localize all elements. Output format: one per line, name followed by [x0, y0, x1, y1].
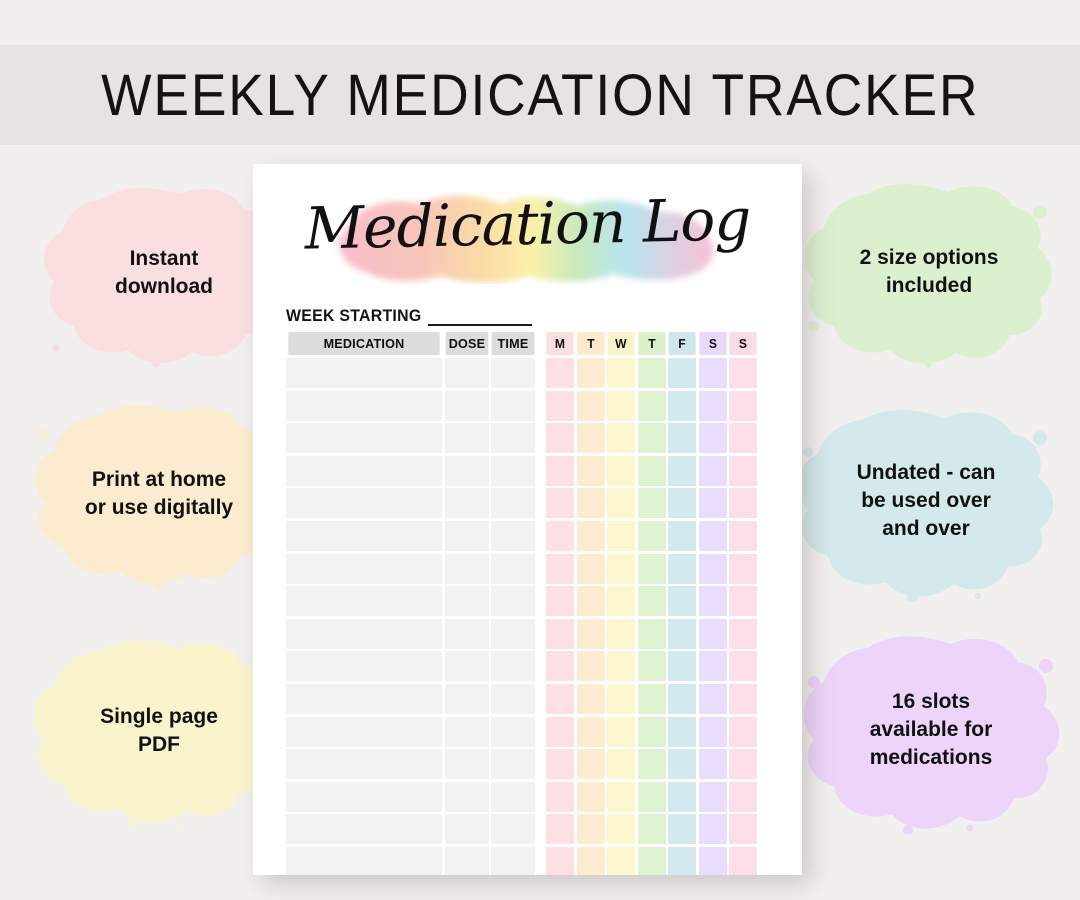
table-row: [286, 749, 770, 779]
cell-day-checkbox[interactable]: [699, 391, 727, 421]
week-starting-label: WEEK STARTING: [286, 307, 421, 326]
cell-dose[interactable]: [445, 717, 489, 747]
cell-day-checkbox[interactable]: [546, 423, 574, 453]
column-gap: [538, 782, 544, 812]
column-gap: [538, 814, 544, 844]
cell-time[interactable]: [491, 423, 535, 453]
cell-day-checkbox[interactable]: [638, 488, 666, 518]
cell-day-checkbox[interactable]: [607, 619, 635, 649]
column-gap: [538, 717, 544, 747]
cell-day-checkbox[interactable]: [729, 423, 757, 453]
week-starting-input[interactable]: [428, 309, 532, 326]
cell-day-checkbox[interactable]: [668, 456, 696, 486]
cell-medication[interactable]: [286, 749, 442, 779]
column-gap: [538, 554, 544, 584]
cell-day-checkbox[interactable]: [668, 847, 696, 875]
cell-day-checkbox[interactable]: [607, 554, 635, 584]
cell-day-checkbox[interactable]: [546, 782, 574, 812]
cell-day-checkbox[interactable]: [699, 782, 727, 812]
cell-day-checkbox[interactable]: [729, 521, 757, 551]
cell-day-checkbox[interactable]: [699, 488, 727, 518]
column-header-medication: MEDICATION: [288, 332, 439, 355]
table-row: [286, 847, 770, 875]
feature-two-size-options: 2 size optionsincluded: [800, 176, 1058, 368]
cell-day-checkbox[interactable]: [729, 749, 757, 779]
cell-dose[interactable]: [445, 651, 489, 681]
cell-day-checkbox[interactable]: [668, 586, 696, 616]
column-gap: [538, 423, 544, 453]
cell-dose[interactable]: [445, 391, 489, 421]
column-gap: [538, 684, 544, 714]
cell-day-checkbox[interactable]: [638, 684, 666, 714]
cell-day-checkbox[interactable]: [577, 814, 605, 844]
cell-time[interactable]: [491, 586, 535, 616]
cell-day-checkbox[interactable]: [638, 521, 666, 551]
cell-day-checkbox[interactable]: [577, 684, 605, 714]
cell-day-checkbox[interactable]: [577, 782, 605, 812]
cell-day-checkbox[interactable]: [729, 651, 757, 681]
table-row: [286, 814, 770, 844]
cell-dose[interactable]: [445, 749, 489, 779]
cell-day-checkbox[interactable]: [729, 717, 757, 747]
column-gap: [538, 619, 544, 649]
cell-day-checkbox[interactable]: [729, 847, 757, 875]
cell-day-checkbox[interactable]: [729, 554, 757, 584]
cell-day-checkbox[interactable]: [638, 814, 666, 844]
cell-day-checkbox[interactable]: [577, 456, 605, 486]
cell-day-checkbox[interactable]: [699, 619, 727, 649]
cell-day-checkbox[interactable]: [546, 749, 574, 779]
feature-label: 2 size optionsincluded: [854, 244, 1005, 299]
feature-undated: Undated - canbe used overand over: [792, 400, 1060, 602]
cell-day-checkbox[interactable]: [699, 521, 727, 551]
cell-time[interactable]: [491, 554, 535, 584]
cell-day-checkbox[interactable]: [638, 456, 666, 486]
cell-day-checkbox[interactable]: [546, 391, 574, 421]
cell-day-checkbox[interactable]: [729, 456, 757, 486]
cell-day-checkbox[interactable]: [546, 717, 574, 747]
cell-medication[interactable]: [286, 847, 442, 875]
page-title: WEEKLY MEDICATION TRACKER: [101, 62, 979, 129]
column-header-day-friday: F: [668, 332, 695, 355]
cell-medication[interactable]: [286, 651, 442, 681]
table-body: [286, 358, 770, 875]
cell-dose[interactable]: [445, 619, 489, 649]
cell-day-checkbox[interactable]: [607, 749, 635, 779]
cell-day-checkbox[interactable]: [699, 684, 727, 714]
cell-time[interactable]: [491, 358, 535, 388]
cell-day-checkbox[interactable]: [729, 619, 757, 649]
cell-day-checkbox[interactable]: [699, 847, 727, 875]
cell-day-checkbox[interactable]: [577, 488, 605, 518]
table-row: [286, 619, 770, 649]
cell-medication[interactable]: [286, 423, 442, 453]
cell-medication[interactable]: [286, 554, 442, 584]
cell-dose[interactable]: [445, 554, 489, 584]
cell-time[interactable]: [491, 814, 535, 844]
cell-time[interactable]: [491, 488, 535, 518]
cell-day-checkbox[interactable]: [638, 782, 666, 812]
cell-day-checkbox[interactable]: [699, 358, 727, 388]
cell-day-checkbox[interactable]: [607, 423, 635, 453]
cell-day-checkbox[interactable]: [546, 488, 574, 518]
cell-day-checkbox[interactable]: [699, 554, 727, 584]
cell-dose[interactable]: [445, 488, 489, 518]
cell-day-checkbox[interactable]: [607, 521, 635, 551]
cell-day-checkbox[interactable]: [638, 749, 666, 779]
table-row: [286, 684, 770, 714]
cell-day-checkbox[interactable]: [546, 814, 574, 844]
log-title: Medication Log: [253, 184, 802, 263]
cell-medication[interactable]: [286, 782, 442, 812]
cell-day-checkbox[interactable]: [729, 358, 757, 388]
column-header-day-tuesday: T: [577, 332, 604, 355]
cell-day-checkbox[interactable]: [577, 651, 605, 681]
cell-medication[interactable]: [286, 488, 442, 518]
cell-dose[interactable]: [445, 847, 489, 875]
page-banner: WEEKLY MEDICATION TRACKER: [0, 45, 1080, 145]
cell-day-checkbox[interactable]: [729, 782, 757, 812]
cell-day-checkbox[interactable]: [607, 586, 635, 616]
cell-day-checkbox[interactable]: [668, 749, 696, 779]
cell-day-checkbox[interactable]: [699, 651, 727, 681]
column-gap: [538, 456, 544, 486]
cell-day-checkbox[interactable]: [638, 423, 666, 453]
cell-time[interactable]: [491, 749, 535, 779]
table-row: [286, 651, 770, 681]
cell-dose[interactable]: [445, 586, 489, 616]
cell-medication[interactable]: [286, 684, 442, 714]
cell-day-checkbox[interactable]: [607, 814, 635, 844]
cell-day-checkbox[interactable]: [699, 586, 727, 616]
cell-day-checkbox[interactable]: [668, 651, 696, 681]
cell-day-checkbox[interactable]: [638, 717, 666, 747]
cell-day-checkbox[interactable]: [729, 586, 757, 616]
column-gap: [538, 847, 544, 875]
table-row: [286, 391, 770, 421]
cell-day-checkbox[interactable]: [729, 488, 757, 518]
cell-day-checkbox[interactable]: [638, 847, 666, 875]
cell-day-checkbox[interactable]: [668, 782, 696, 812]
feature-label: Instantdownload: [109, 245, 219, 300]
cell-day-checkbox[interactable]: [668, 717, 696, 747]
cell-dose[interactable]: [445, 521, 489, 551]
cell-day-checkbox[interactable]: [546, 554, 574, 584]
log-header: Medication Log: [253, 178, 802, 296]
cell-medication[interactable]: [286, 814, 442, 844]
table-row: [286, 782, 770, 812]
cell-time[interactable]: [491, 521, 535, 551]
cell-medication[interactable]: [286, 586, 442, 616]
cell-time[interactable]: [491, 684, 535, 714]
cell-day-checkbox[interactable]: [577, 423, 605, 453]
cell-day-checkbox[interactable]: [607, 782, 635, 812]
column-header-time: TIME: [492, 332, 535, 355]
cell-time[interactable]: [491, 456, 535, 486]
column-header-day-sunday: S: [729, 332, 756, 355]
cell-day-checkbox[interactable]: [668, 684, 696, 714]
cell-day-checkbox[interactable]: [699, 456, 727, 486]
cell-day-checkbox[interactable]: [577, 358, 605, 388]
cell-dose[interactable]: [445, 456, 489, 486]
cell-day-checkbox[interactable]: [729, 814, 757, 844]
cell-day-checkbox[interactable]: [699, 423, 727, 453]
cell-day-checkbox[interactable]: [607, 847, 635, 875]
cell-day-checkbox[interactable]: [607, 684, 635, 714]
column-header-day-monday: M: [546, 332, 573, 355]
cell-day-checkbox[interactable]: [546, 358, 574, 388]
cell-day-checkbox[interactable]: [607, 717, 635, 747]
printable-page-preview: Medication Log WEEK STARTING MEDICATION …: [253, 164, 802, 875]
column-header-day-wednesday: W: [607, 332, 634, 355]
column-gap: [538, 651, 544, 681]
cell-day-checkbox[interactable]: [638, 586, 666, 616]
cell-day-checkbox[interactable]: [546, 456, 574, 486]
cell-day-checkbox[interactable]: [607, 456, 635, 486]
cell-day-checkbox[interactable]: [577, 619, 605, 649]
cell-medication[interactable]: [286, 391, 442, 421]
cell-dose[interactable]: [445, 814, 489, 844]
cell-day-checkbox[interactable]: [546, 521, 574, 551]
cell-day-checkbox[interactable]: [577, 749, 605, 779]
cell-time[interactable]: [491, 782, 535, 812]
cell-day-checkbox[interactable]: [577, 717, 605, 747]
cell-day-checkbox[interactable]: [638, 391, 666, 421]
cell-day-checkbox[interactable]: [668, 358, 696, 388]
cell-day-checkbox[interactable]: [577, 554, 605, 584]
table-row: [286, 423, 770, 453]
cell-day-checkbox[interactable]: [729, 684, 757, 714]
cell-day-checkbox[interactable]: [668, 521, 696, 551]
column-gap: [538, 391, 544, 421]
cell-day-checkbox[interactable]: [638, 651, 666, 681]
week-starting-row: WEEK STARTING: [286, 302, 802, 326]
table-row: [286, 554, 770, 584]
cell-day-checkbox[interactable]: [729, 391, 757, 421]
cell-day-checkbox[interactable]: [668, 423, 696, 453]
cell-day-checkbox[interactable]: [638, 554, 666, 584]
feature-label: Single pagePDF: [94, 703, 224, 758]
cell-day-checkbox[interactable]: [607, 651, 635, 681]
cell-day-checkbox[interactable]: [546, 651, 574, 681]
cell-day-checkbox[interactable]: [668, 554, 696, 584]
table-row: [286, 488, 770, 518]
column-gap: [538, 521, 544, 551]
column-header-day-thursday: T: [638, 332, 665, 355]
cell-medication[interactable]: [286, 358, 442, 388]
cell-day-checkbox[interactable]: [699, 717, 727, 747]
feature-single-page-pdf: Single pagePDF: [30, 632, 288, 830]
feature-label: Undated - canbe used overand over: [851, 459, 1002, 542]
cell-time[interactable]: [491, 847, 535, 875]
column-header-dose: DOSE: [445, 332, 488, 355]
table-row: [286, 586, 770, 616]
cell-medication[interactable]: [286, 521, 442, 551]
cell-day-checkbox[interactable]: [638, 619, 666, 649]
cell-day-checkbox[interactable]: [577, 391, 605, 421]
column-gap: [538, 488, 544, 518]
feature-label: 16 slotsavailable formedications: [864, 688, 999, 771]
cell-medication[interactable]: [286, 456, 442, 486]
cell-day-checkbox[interactable]: [668, 391, 696, 421]
cell-day-checkbox[interactable]: [577, 586, 605, 616]
cell-day-checkbox[interactable]: [607, 488, 635, 518]
cell-day-checkbox[interactable]: [546, 619, 574, 649]
cell-day-checkbox[interactable]: [699, 749, 727, 779]
cell-medication[interactable]: [286, 619, 442, 649]
cell-dose[interactable]: [445, 423, 489, 453]
table-row: [286, 717, 770, 747]
column-gap: [538, 358, 544, 388]
cell-day-checkbox[interactable]: [699, 814, 727, 844]
cell-medication[interactable]: [286, 717, 442, 747]
cell-day-checkbox[interactable]: [668, 814, 696, 844]
cell-dose[interactable]: [445, 358, 489, 388]
table-row: [286, 358, 770, 388]
column-header-day-saturday: S: [699, 332, 726, 355]
cell-day-checkbox[interactable]: [607, 391, 635, 421]
feature-label: Print at homeor use digitally: [79, 466, 239, 521]
cell-time[interactable]: [491, 717, 535, 747]
feature-16-slots: 16 slotsavailable formedications: [798, 626, 1064, 834]
cell-day-checkbox[interactable]: [668, 488, 696, 518]
cell-day-checkbox[interactable]: [546, 847, 574, 875]
cell-day-checkbox[interactable]: [668, 619, 696, 649]
cell-day-checkbox[interactable]: [638, 358, 666, 388]
table-row: [286, 456, 770, 486]
column-gap: [538, 586, 544, 616]
cell-day-checkbox[interactable]: [577, 847, 605, 875]
cell-day-checkbox[interactable]: [607, 358, 635, 388]
cell-time[interactable]: [491, 651, 535, 681]
cell-day-checkbox[interactable]: [546, 586, 574, 616]
column-gap: [538, 332, 544, 355]
cell-time[interactable]: [491, 619, 535, 649]
cell-dose[interactable]: [445, 782, 489, 812]
table-header-row: MEDICATION DOSE TIME M T W T F S S: [286, 332, 770, 355]
table-row: [286, 521, 770, 551]
cell-dose[interactable]: [445, 684, 489, 714]
column-gap: [538, 749, 544, 779]
medication-tracker-table: MEDICATION DOSE TIME M T W T F S S: [286, 332, 770, 875]
cell-day-checkbox[interactable]: [577, 521, 605, 551]
cell-time[interactable]: [491, 391, 535, 421]
feature-print-at-home: Print at homeor use digitally: [28, 398, 290, 590]
cell-day-checkbox[interactable]: [546, 684, 574, 714]
